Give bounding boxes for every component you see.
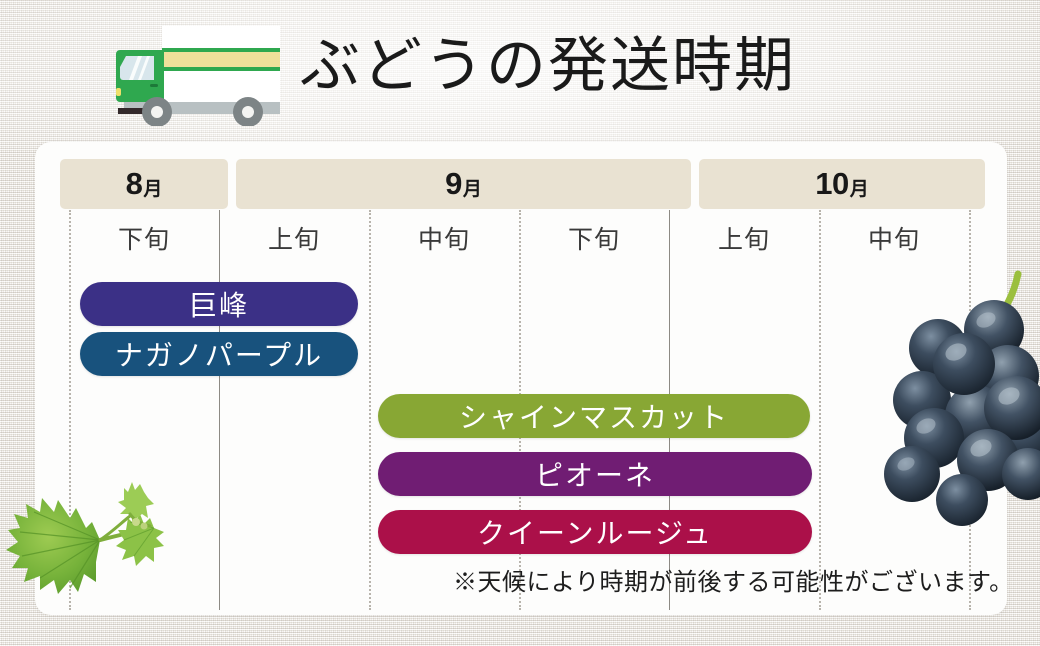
month-number: 9 bbox=[445, 166, 462, 202]
delivery-truck-icon bbox=[102, 22, 292, 126]
month-cell-august: 8月 bbox=[60, 159, 228, 209]
month-suffix: 月 bbox=[850, 174, 869, 201]
gridline-dotted-oct-1 bbox=[819, 210, 821, 610]
header: ぶどうの発送時期 bbox=[0, 0, 1040, 142]
variety-bar-label: ナガノパープル bbox=[115, 334, 323, 374]
month-cell-october: 10月 bbox=[699, 159, 985, 209]
decade-cell-0: 下旬 bbox=[69, 214, 219, 262]
month-number: 10 bbox=[815, 166, 848, 202]
variety-bar-label: ピオーネ bbox=[535, 454, 655, 494]
month-cell-september: 9月 bbox=[236, 159, 691, 209]
variety-bar-nagano-purple: ナガノパープル bbox=[80, 332, 358, 376]
month-header-row: 8月 9月 10月 bbox=[60, 159, 985, 209]
variety-bar-label: 巨峰 bbox=[189, 284, 249, 324]
month-number: 8 bbox=[126, 166, 143, 202]
variety-bar-label: シャインマスカット bbox=[459, 396, 729, 436]
variety-bar-pione: ピオーネ bbox=[378, 452, 812, 496]
decade-cell-1: 上旬 bbox=[219, 214, 369, 262]
page-title: ぶどうの発送時期 bbox=[300, 18, 900, 114]
shipping-schedule-card: 8月 9月 10月 下旬 上旬 中旬 下旬 上旬 中旬 巨峰 ナガノパープル シ… bbox=[35, 142, 1007, 615]
month-suffix: 月 bbox=[143, 174, 162, 201]
gridline-dotted-left-edge bbox=[69, 210, 71, 610]
decade-cell-3: 下旬 bbox=[519, 214, 669, 262]
gridline-dotted-sep-1 bbox=[369, 210, 371, 610]
decade-cell-4: 上旬 bbox=[669, 214, 819, 262]
decade-cell-2: 中旬 bbox=[369, 214, 519, 262]
variety-bar-kyoho: 巨峰 bbox=[80, 282, 358, 326]
variety-bar-shine-muscat: シャインマスカット bbox=[378, 394, 810, 438]
decade-header-row: 下旬 上旬 中旬 下旬 上旬 中旬 bbox=[35, 214, 1007, 262]
gridline-solid-aug-sep bbox=[219, 210, 220, 610]
gridline-dotted-right-edge bbox=[969, 210, 971, 610]
variety-bar-label: クイーンルージュ bbox=[477, 512, 713, 552]
variety-bar-queen-rouge: クイーンルージュ bbox=[378, 510, 812, 554]
decade-cell-5: 中旬 bbox=[819, 214, 969, 262]
weather-disclaimer-note: ※天候により時期が前後する可能性がございます。 bbox=[453, 562, 1007, 597]
month-suffix: 月 bbox=[463, 174, 482, 201]
